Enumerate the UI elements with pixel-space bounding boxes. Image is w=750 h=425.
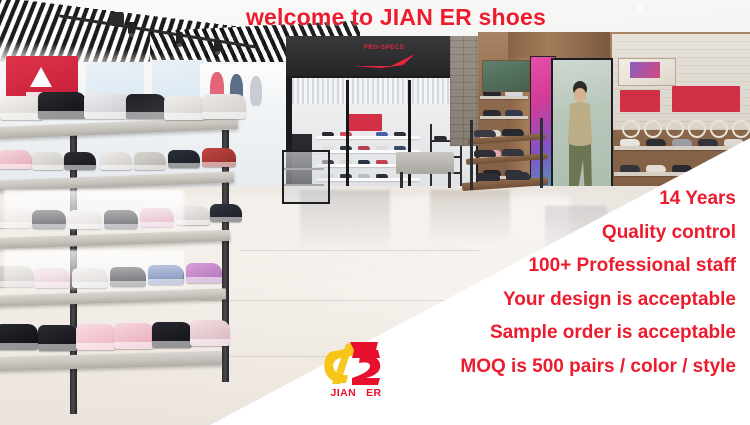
shoe-item [698,139,718,146]
shoe-item [168,150,200,168]
wood-column-header [508,32,610,58]
shoe-item [100,152,132,170]
hoop-display-icon [732,120,750,138]
shoe-item [474,130,496,137]
promo-banner: PRO-SPECS [0,0,750,425]
shoe-item [476,173,500,181]
shoe-item [84,93,128,119]
hoop-display-icon [688,120,706,138]
shoe-item [358,160,370,164]
prospecs-swoosh-icon [351,53,417,69]
storefront-door-frame [346,80,349,192]
shoe-item [358,146,370,150]
jianer-logo: JIAN ER [316,338,396,400]
shoe-item [358,174,370,178]
shoe-item [394,146,406,150]
shoe-item [434,136,447,140]
shoe-item [38,92,86,119]
shelf-board [0,171,234,191]
storefront-shelf [316,136,420,139]
wall-framed-poster [482,60,530,92]
logo-brand-first: JIAN [331,387,357,399]
feature-item-years: 14 Years [296,182,736,216]
spotlight-icon [214,40,221,52]
storefront-shelf [316,178,420,181]
store-bench [396,152,454,174]
shoe-item [202,148,236,167]
shoe-item [620,165,640,172]
shoe-item [202,94,246,119]
shoe-item [164,96,206,120]
shoe-item [38,325,78,351]
feature-item-quality: Quality control [296,216,736,250]
shoe-item [358,132,370,136]
shoe-item [646,165,666,172]
shoe-item [32,152,64,170]
shoe-item [322,132,334,136]
shoe-item [0,324,38,350]
banner-figure [250,76,262,106]
shoe-item [483,110,501,116]
shoe-item [126,94,166,119]
right-wall-poster-accent [630,62,660,78]
shoe-item [376,146,388,150]
right-shelf [480,96,528,99]
right-wall-red-sign [620,90,660,112]
shoe-item [502,129,524,136]
shoe-item [152,322,192,348]
shelf-board [0,351,222,371]
shelf-board [0,117,238,139]
shoe-item [505,110,523,116]
storefront-backlight [292,78,476,104]
shoe-item [210,204,242,222]
shoe-item [474,150,496,157]
shoe-item [190,320,230,346]
spotlight-icon [176,32,183,44]
shoe-item [114,323,154,349]
display-rack-leg [470,120,473,190]
prospecs-logo: PRO-SPECS [351,45,417,69]
shoe-item [76,324,116,350]
page-title: welcome to JIAN ER shoes [0,4,750,31]
feature-item-staff: 100+ Professional staff [296,249,736,283]
feature-item-your-design: Your design is acceptable [296,283,736,317]
jianer-monogram-icon [316,338,396,390]
glass-case-shelf [284,168,324,170]
shoe-item [64,152,96,170]
shelf-board [0,288,226,306]
backlit-panel [4,190,184,230]
storefront-brand-plate [348,114,382,131]
jianer-wordmark: JIAN ER [316,387,396,399]
shoe-item [620,139,640,146]
shoe-item [646,139,666,146]
shoe-item [376,174,388,178]
shoe-item [394,132,406,136]
display-rack-leg [540,118,543,188]
backlit-panel [4,250,184,290]
hoop-display-icon [666,120,684,138]
shoe-item [376,132,388,136]
shoe-item [186,263,222,283]
shoe-item [502,149,524,156]
shoe-item [506,172,530,180]
shelf-board [0,230,230,249]
hoop-display-icon [710,120,728,138]
shoe-item [672,139,692,146]
right-wall-red-sign [672,86,740,112]
shoe-item [134,152,166,170]
storefront-door-frame [408,80,411,192]
shoe-item [0,150,32,169]
hoop-display-icon [622,120,640,138]
shoe-item [376,160,388,164]
right-shelf [480,116,528,119]
prospecs-wordmark: PRO-SPECS [351,45,417,51]
logo-brand-second: ER [366,387,381,399]
hoop-display-icon [644,120,662,138]
